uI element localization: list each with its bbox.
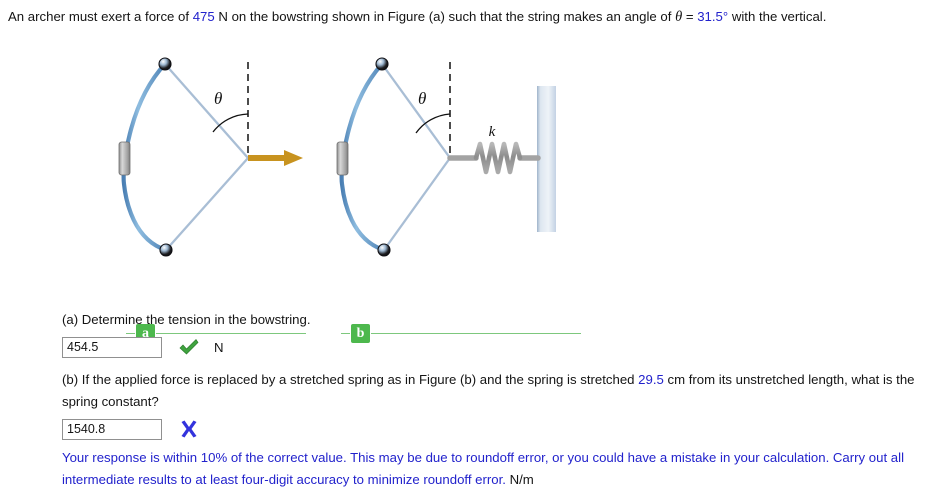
question-b-text: (b) If the applied force is replaced by … bbox=[62, 369, 922, 413]
bow-grip bbox=[119, 142, 130, 175]
bow-diagram-a: θ bbox=[100, 52, 330, 300]
question-b: (b) If the applied force is replaced by … bbox=[62, 369, 922, 491]
bow-grip bbox=[337, 142, 348, 175]
bowstring-lower bbox=[384, 158, 450, 250]
force-value: 475 bbox=[193, 9, 215, 24]
feedback-text: Your response is within 10% of the corre… bbox=[62, 450, 904, 487]
question-a-answer-row: N bbox=[62, 336, 922, 358]
question-b-answer-row bbox=[62, 418, 922, 440]
bowstring-upper bbox=[382, 64, 450, 158]
angle-value: 31.5° bbox=[697, 9, 728, 24]
unit-label-a: N bbox=[214, 340, 224, 355]
question-b-text-part1: (b) If the applied force is replaced by … bbox=[62, 372, 638, 387]
stretch-value: 29.5 bbox=[638, 372, 664, 387]
nock-point-bottom bbox=[160, 244, 172, 256]
nock-point-top bbox=[159, 58, 171, 70]
unit-label-b: N/m bbox=[510, 472, 534, 487]
spring-coil bbox=[476, 144, 520, 172]
incorrect-cross-icon bbox=[178, 419, 200, 439]
theta-label-a: θ bbox=[214, 89, 222, 108]
figure-b: θ k bbox=[330, 52, 590, 300]
bowstring-upper bbox=[165, 64, 248, 158]
nock-point-top bbox=[376, 58, 388, 70]
correct-check-icon bbox=[178, 337, 200, 357]
question-a: (a) Determine the tension in the bowstri… bbox=[62, 309, 922, 358]
problem-text-prefix: An archer must exert a force of bbox=[8, 9, 193, 24]
problem-text-mid2: = bbox=[682, 9, 697, 24]
theta-label-b: θ bbox=[418, 89, 426, 108]
spring-constant-label: k bbox=[489, 124, 496, 140]
nock-point-bottom bbox=[378, 244, 390, 256]
answer-input-b[interactable] bbox=[62, 419, 162, 440]
problem-text-mid1: N on the bowstring shown in Figure (a) s… bbox=[215, 9, 675, 24]
figure-a: θ bbox=[100, 52, 330, 300]
question-a-text: (a) Determine the tension in the bowstri… bbox=[62, 309, 922, 331]
bowstring-lower bbox=[166, 158, 248, 250]
feedback-message: Your response is within 10% of the corre… bbox=[62, 447, 922, 491]
answer-input-a[interactable] bbox=[62, 337, 162, 358]
bow-diagram-b: θ k bbox=[330, 52, 590, 300]
force-arrow bbox=[248, 150, 303, 166]
problem-statement: An archer must exert a force of 475 N on… bbox=[8, 4, 918, 30]
problem-text-suffix: with the vertical. bbox=[728, 9, 826, 24]
figure-panel: θ bbox=[0, 52, 936, 300]
